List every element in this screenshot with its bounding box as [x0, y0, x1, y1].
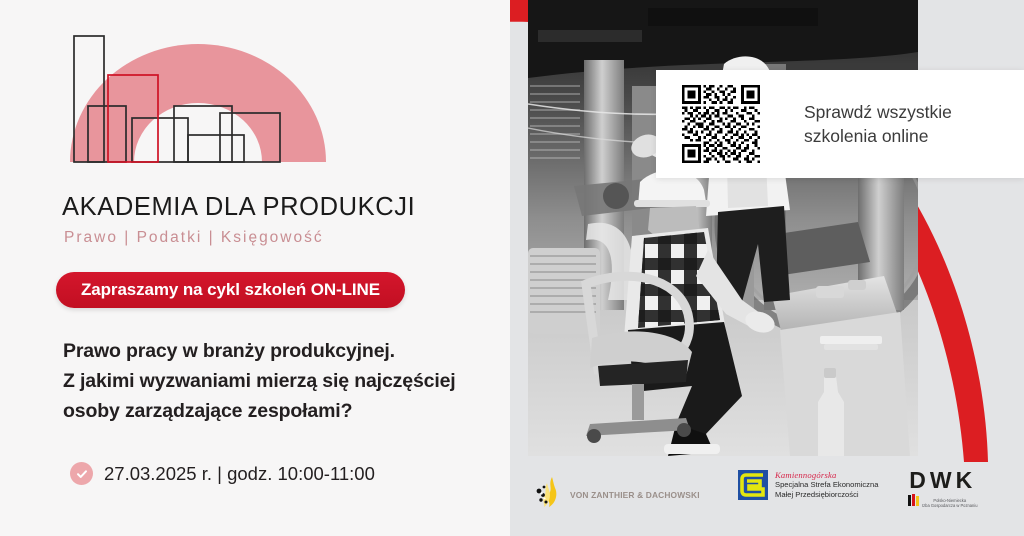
qr-promo-panel[interactable]: Sprawdź wszystkie szkolenia online [656, 70, 1024, 178]
qr-caption: Sprawdź wszystkie szkolenia online [804, 100, 952, 148]
right-visual-panel: Sprawdź wszystkie szkolenia online [510, 0, 1024, 536]
headline-line-1: Prawo pracy w branży produkcyjnej. [63, 336, 503, 366]
invite-badge-label: Zapraszamy na cykl szkoleń ON-LINE [81, 280, 380, 300]
left-info-panel: AKADEMIA DLA PRODUKCJI Prawo | Podatki |… [0, 0, 510, 536]
headline-line-3: osoby zarządzające zespołami? [63, 396, 503, 426]
qr-caption-line-1: Sprawdź wszystkie [804, 100, 952, 124]
event-datetime-row: 27.03.2025 r. | godz. 10:00-11:00 [70, 462, 375, 485]
dwk-label: DWK [908, 468, 978, 493]
factory-workers-photo [528, 0, 918, 456]
ksse-spiral-icon [738, 470, 768, 500]
dwk-sub-line-2: Izba Gospodarcza w Poznaniu [922, 503, 978, 508]
logo-dwk: DWK Polsko-Niemiecka Izba Gospodarcza w … [908, 468, 978, 512]
vzd-flame-icon [532, 474, 568, 515]
vzd-label: VON ZANTHIER & DACHOWSKI [570, 490, 700, 500]
event-datetime-label: 27.03.2025 r. | godz. 10:00-11:00 [104, 463, 375, 485]
ksse-script-label: Kamiennogórska [775, 471, 878, 480]
academy-logo-icon [62, 30, 344, 175]
german-flag-icon [908, 494, 919, 512]
check-circle-icon [70, 462, 93, 485]
ksse-line-1: Specjalna Strefa Ekonomiczna [775, 480, 878, 489]
qr-code-icon[interactable] [682, 85, 760, 163]
logo-von-zanthier-dachowski: VON ZANTHIER & DACHOWSKI [532, 474, 700, 515]
headline: Prawo pracy w branży produkcyjnej. Z jak… [63, 336, 503, 426]
ksse-line-2: Małej Przedsiębiorczości [775, 490, 878, 499]
brand-tagline: Prawo | Podatki | Księgowość [64, 229, 324, 247]
webinar-banner: AKADEMIA DLA PRODUKCJI Prawo | Podatki |… [0, 0, 1024, 536]
logo-ksse: Kamiennogórska Specjalna Strefa Ekonomic… [738, 470, 878, 500]
page-title: AKADEMIA DLA PRODUKCJI [62, 193, 415, 222]
headline-line-2: Z jakimi wyzwaniami mierzą się najczęści… [63, 366, 503, 396]
qr-caption-line-2: szkolenia online [804, 124, 952, 148]
partner-logos: VON ZANTHIER & DACHOWSKI Kamiennogórska … [510, 460, 1024, 536]
invite-badge: Zapraszamy na cykl szkoleń ON-LINE [56, 272, 405, 308]
